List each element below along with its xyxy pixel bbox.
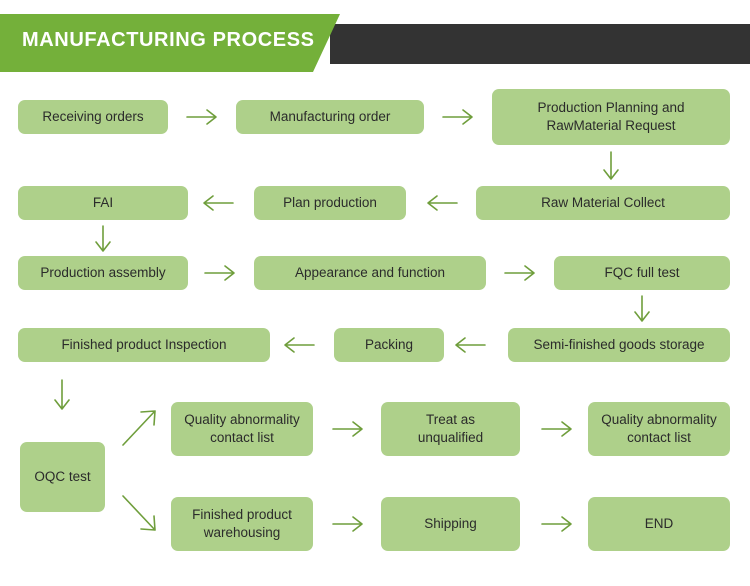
node-receiving-orders[interactable]: Receiving orders bbox=[18, 100, 168, 134]
node-production-assembly[interactable]: Production assembly bbox=[18, 256, 188, 290]
node-label: Shipping bbox=[424, 515, 477, 533]
node-end[interactable]: END bbox=[588, 497, 730, 551]
node-semi-finished-goods-storage[interactable]: Semi-finished goods storage bbox=[508, 328, 730, 362]
node-label: Quality abnormality contact list bbox=[184, 411, 300, 447]
node-appearance-and-function[interactable]: Appearance and function bbox=[254, 256, 486, 290]
node-label: Raw Material Collect bbox=[541, 194, 665, 212]
arrow-right-quality1-to-treat bbox=[331, 420, 367, 438]
node-treat-as-unqualified[interactable]: Treat as unqualified bbox=[381, 402, 520, 456]
arrow-right-manufacturing-to-planning bbox=[441, 108, 477, 126]
node-raw-material-collect[interactable]: Raw Material Collect bbox=[476, 186, 730, 220]
node-label: Plan production bbox=[283, 194, 377, 212]
node-quality-abnormality-2[interactable]: Quality abnormality contact list bbox=[588, 402, 730, 456]
node-plan-production[interactable]: Plan production bbox=[254, 186, 406, 220]
node-quality-abnormality-1[interactable]: Quality abnormality contact list bbox=[171, 402, 313, 456]
arrow-downright-oqc-to-warehousing bbox=[119, 492, 163, 536]
arrow-left-packing-to-inspection bbox=[281, 336, 317, 354]
node-label: Manufacturing order bbox=[270, 108, 391, 126]
node-label: Treat as unqualified bbox=[418, 411, 483, 447]
node-label: Production assembly bbox=[40, 264, 165, 282]
arrow-upright-oqc-to-quality-abnormality bbox=[119, 405, 163, 449]
node-label: Finished product warehousing bbox=[192, 506, 292, 542]
node-label: Quality abnormality contact list bbox=[601, 411, 717, 447]
node-production-planning[interactable]: Production Planning and RawMaterial Requ… bbox=[492, 89, 730, 145]
arrow-down-planning-to-rawmaterial bbox=[602, 150, 620, 184]
node-label: OQC test bbox=[34, 468, 90, 486]
node-oqc-test[interactable]: OQC test bbox=[20, 442, 105, 512]
arrow-right-shipping-to-end bbox=[540, 515, 576, 533]
node-label: Appearance and function bbox=[295, 264, 445, 282]
arrow-right-assembly-to-appearance bbox=[203, 264, 239, 282]
node-label: Production Planning and RawMaterial Requ… bbox=[537, 99, 684, 135]
node-manufacturing-order[interactable]: Manufacturing order bbox=[236, 100, 424, 134]
node-fqc-full-test[interactable]: FQC full test bbox=[554, 256, 730, 290]
node-label: Packing bbox=[365, 336, 413, 354]
arrow-right-warehousing-to-shipping bbox=[331, 515, 367, 533]
header-dark-bar bbox=[330, 24, 750, 64]
node-label: Semi-finished goods storage bbox=[533, 336, 704, 354]
node-finished-product-inspection[interactable]: Finished product Inspection bbox=[18, 328, 270, 362]
node-label: Finished product Inspection bbox=[61, 336, 226, 354]
arrow-left-planproduction-to-fai bbox=[200, 194, 236, 212]
node-label: FQC full test bbox=[604, 264, 679, 282]
node-shipping[interactable]: Shipping bbox=[381, 497, 520, 551]
node-label: Receiving orders bbox=[42, 108, 143, 126]
arrow-left-rawmaterial-to-planproduction bbox=[424, 194, 460, 212]
arrow-right-receiving-to-manufacturing bbox=[185, 108, 221, 126]
arrow-down-fqc-to-semifinished bbox=[633, 294, 651, 326]
node-label: END bbox=[645, 515, 674, 533]
arrow-right-appearance-to-fqc bbox=[503, 264, 539, 282]
node-fai[interactable]: FAI bbox=[18, 186, 188, 220]
arrow-right-treat-to-quality2 bbox=[540, 420, 576, 438]
arrow-down-fai-to-assembly bbox=[94, 224, 112, 256]
arrow-left-semifinished-to-packing bbox=[452, 336, 488, 354]
arrow-down-inspection-to-oqc bbox=[53, 378, 71, 414]
node-label: FAI bbox=[93, 194, 113, 212]
node-finished-product-warehousing[interactable]: Finished product warehousing bbox=[171, 497, 313, 551]
flowchart-page: MANUFACTURING PROCESS Receiving orders M… bbox=[0, 0, 750, 586]
node-packing[interactable]: Packing bbox=[334, 328, 444, 362]
page-title: MANUFACTURING PROCESS bbox=[22, 29, 315, 52]
